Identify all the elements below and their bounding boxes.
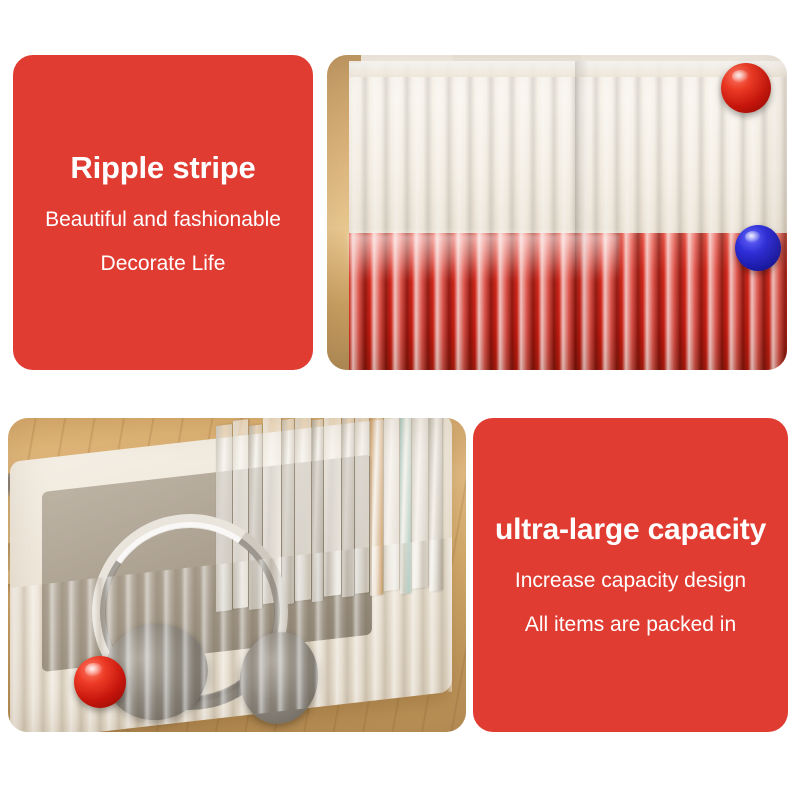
photo-scene-books xyxy=(8,418,466,732)
storage-box-books-photo xyxy=(8,418,466,732)
capacity-subtitle-2: All items are packed in xyxy=(525,613,736,637)
capacity-title: ultra-large capacity xyxy=(495,513,766,547)
red-ball-knob-icon xyxy=(721,63,771,113)
ripple-stripe-subtitle-1: Beautiful and fashionable xyxy=(45,208,281,232)
capacity-text-panel: ultra-large capacity Increase capacity d… xyxy=(473,418,788,732)
ripple-stripe-text-panel: Ripple stripe Beautiful and fashionable … xyxy=(13,55,313,370)
ripple-stripe-title: Ripple stripe xyxy=(70,150,255,186)
blue-ball-knob-icon xyxy=(735,225,781,271)
photo-scene-ripple xyxy=(327,55,787,370)
ripple-box-photo xyxy=(327,55,787,370)
ripple-stripe-subtitle-2: Decorate Life xyxy=(101,252,226,276)
box-top-rim xyxy=(349,61,787,77)
red-ball-knob-icon xyxy=(74,656,126,708)
box-corner-seam xyxy=(575,61,589,370)
capacity-subtitle-1: Increase capacity design xyxy=(515,569,746,593)
product-feature-collage: Ripple stripe Beautiful and fashionable … xyxy=(0,0,800,800)
